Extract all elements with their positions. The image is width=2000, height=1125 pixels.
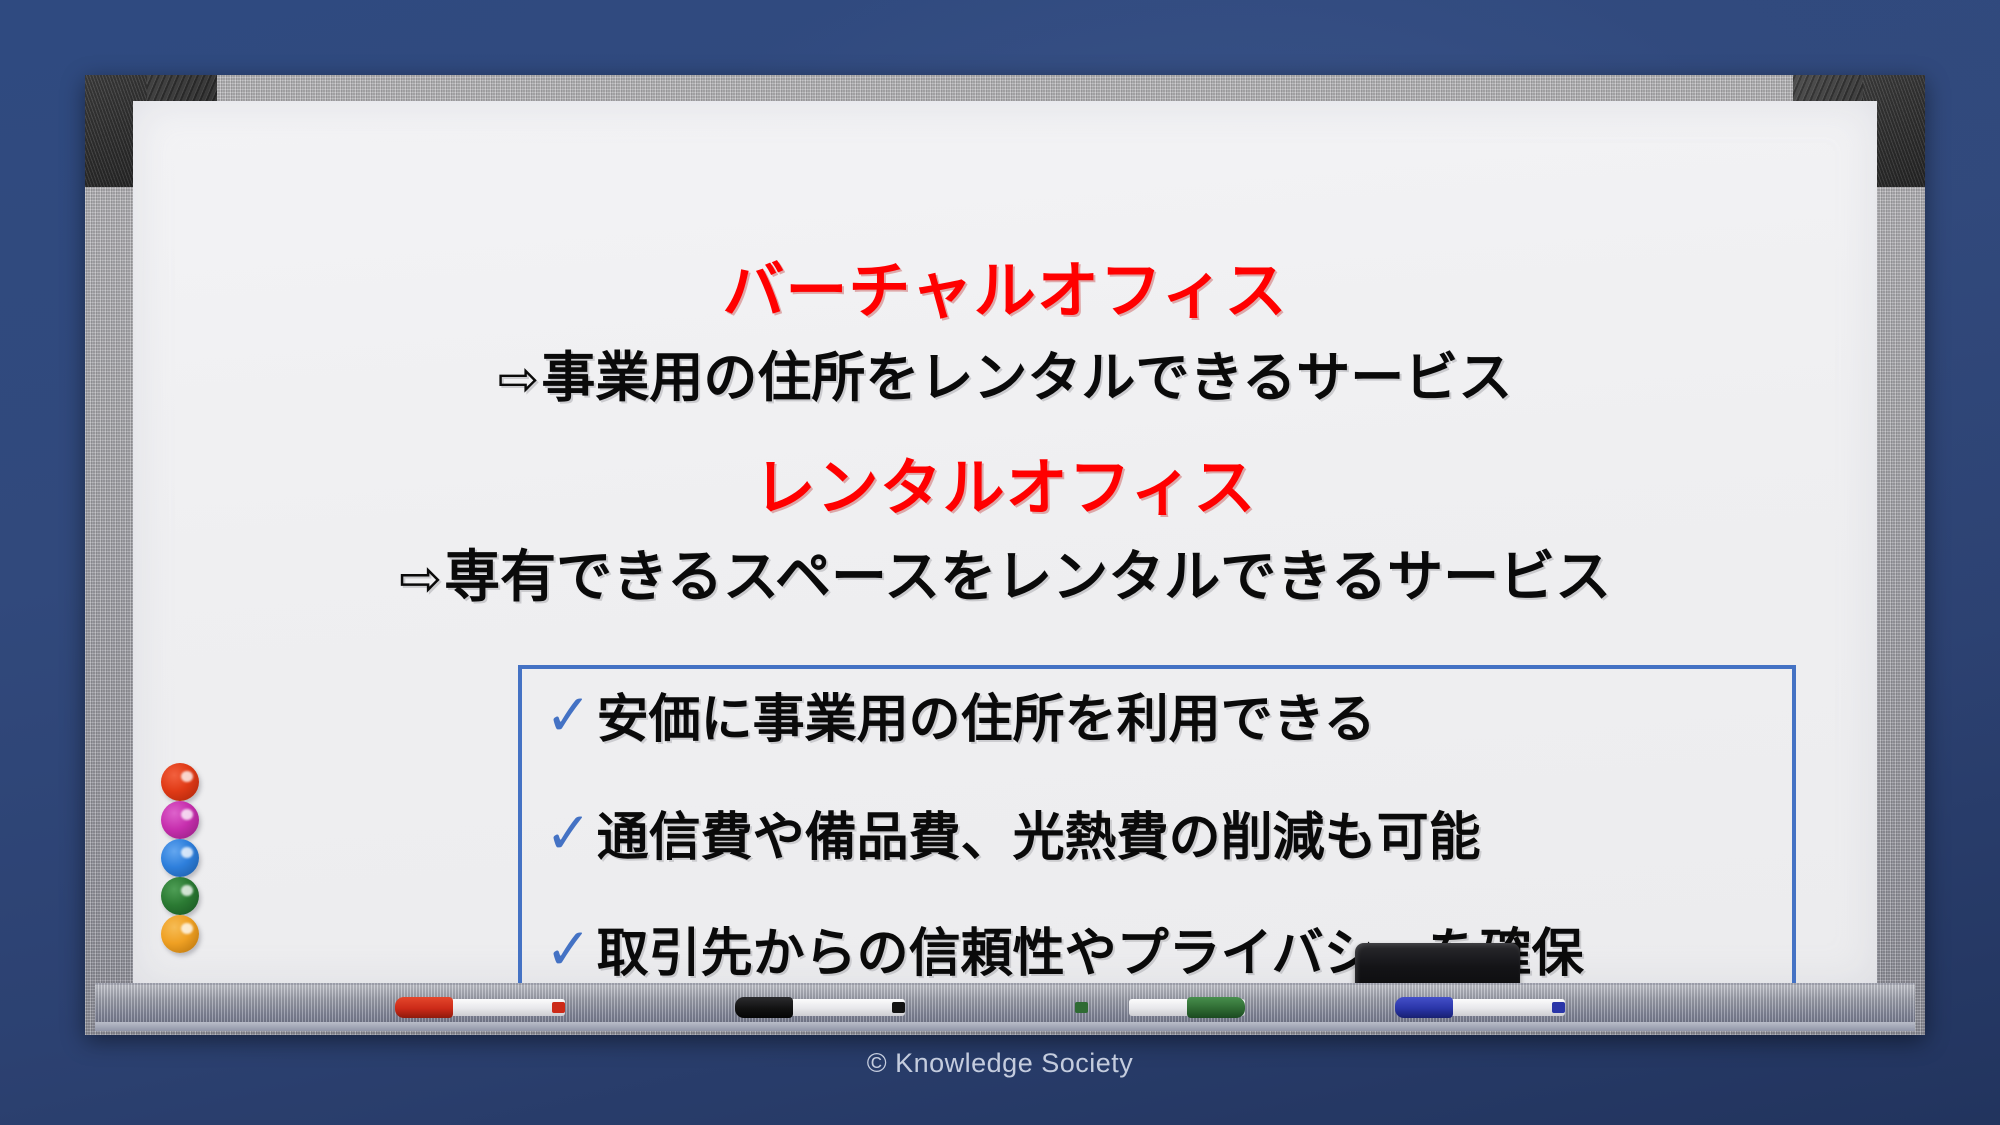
term2-definition-row: ⇨専有できるスペースをレンタルできるサービス [133,549,1877,605]
check-icon: ✓ [545,805,591,863]
red-marker-tip [552,1002,565,1013]
check-icon: ✓ [545,921,591,979]
blue-marker-cap [1395,997,1453,1018]
magnet-orange[interactable] [161,915,199,953]
arrow-right-icon: ⇨ [498,351,540,407]
red-marker[interactable] [395,997,565,1018]
term1-definition-row: ⇨事業用の住所をレンタルできるサービス [133,351,1877,405]
red-marker-barrel [449,999,565,1016]
check-icon: ✓ [545,687,591,745]
black-marker[interactable] [735,997,905,1018]
benefit-item-label: 通信費や備品費、光熱費の削減も可能 [597,811,1481,866]
benefit-item-label: 安価に事業用の住所を利用できる [597,693,1376,748]
magnet-green[interactable] [161,877,199,915]
benefit-item: ✓ 安価に事業用の住所を利用できる [544,691,1376,749]
slide-canvas: バーチャルオフィス ⇨事業用の住所をレンタルできるサービス レンタルオフィス ⇨… [0,0,2000,1125]
green-marker-cap [1187,997,1245,1018]
blue-marker-tip [1552,1002,1565,1013]
magnet-blue[interactable] [161,839,199,877]
green-marker[interactable] [1075,997,1245,1018]
magnet-red[interactable] [161,763,199,801]
blue-marker-barrel [1449,999,1565,1016]
benefits-box: ✓ 安価に事業用の住所を利用できる ✓ 通信費や備品費、光熱費の削減も可能 ✓ … [518,665,1796,1027]
green-marker-tip [1075,1002,1088,1013]
black-marker-barrel [789,999,905,1016]
whiteboard: バーチャルオフィス ⇨事業用の住所をレンタルできるサービス レンタルオフィス ⇨… [85,75,1925,1035]
term2-title: レンタルオフィス [133,458,1877,520]
whiteboard-surface: バーチャルオフィス ⇨事業用の住所をレンタルできるサービス レンタルオフィス ⇨… [133,101,1877,987]
marker-tray [95,983,1915,1031]
marker-tray-lip [95,1022,1915,1031]
black-marker-cap [735,997,793,1018]
black-marker-tip [892,1002,905,1013]
magnet-magenta[interactable] [161,801,199,839]
term2-definition-text: 専有できるスペースをレンタルできるサービス [444,545,1611,608]
term1-definition-text: 事業用の住所をレンタルできるサービス [541,348,1512,408]
red-marker-cap [395,997,453,1018]
copyright-footer: © Knowledge Society [0,1048,2000,1079]
arrow-right-icon: ⇨ [399,549,442,607]
blue-marker[interactable] [1395,997,1565,1018]
term1-title: バーチャルオフィス [133,261,1877,323]
benefit-item: ✓ 通信費や備品費、光熱費の削減も可能 [544,809,1481,867]
